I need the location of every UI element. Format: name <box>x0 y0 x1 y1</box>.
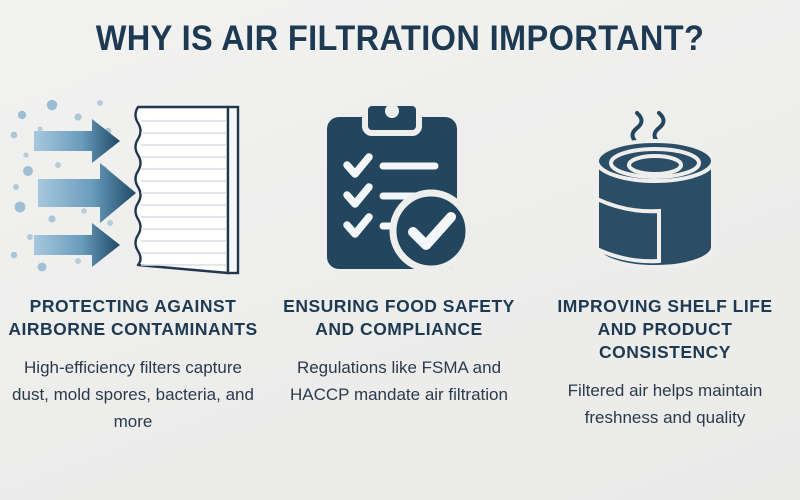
column-protecting-against-airborne-contaminants: PROTECTING AGAINST AIRBORNE CONTAMINANTS… <box>0 92 266 435</box>
column-body-text: High-efficiency filters capture dust, mo… <box>10 354 256 435</box>
column-heading: ENSURING FOOD SAFETY AND COMPLIANCE <box>274 295 524 341</box>
airflow-arrows <box>34 119 136 267</box>
column-ensuring-food-safety-and-compliance: ENSURING FOOD SAFETY AND COMPLIANCE Regu… <box>266 92 532 408</box>
column-heading: IMPROVING SHELF LIFE AND PRODUCT CONSIST… <box>540 295 790 364</box>
column-improving-shelf-life-and-product-consistency: IMPROVING SHELF LIFE AND PRODUCT CONSIST… <box>532 92 798 431</box>
column-body-text: Regulations like FSMA and HACCP mandate … <box>281 354 517 408</box>
columns-row: PROTECTING AGAINST AIRBORNE CONTAMINANTS… <box>0 92 800 435</box>
infographic-poster: WHY IS AIR FILTRATION IMPORTANT? <box>0 0 800 500</box>
can-body <box>597 141 713 267</box>
filter-panel <box>136 107 239 273</box>
page-title: WHY IS AIR FILTRATION IMPORTANT? <box>28 19 772 59</box>
clipboard-checklist-icon <box>266 92 532 287</box>
steam-wisps <box>633 113 664 143</box>
column-body-text: Filtered air helps maintain freshness an… <box>545 377 785 431</box>
column-heading: PROTECTING AGAINST AIRBORNE CONTAMINANTS <box>8 295 258 341</box>
air-filter-icon <box>0 92 266 287</box>
check-badge <box>393 193 469 269</box>
canned-food-icon <box>532 92 798 287</box>
